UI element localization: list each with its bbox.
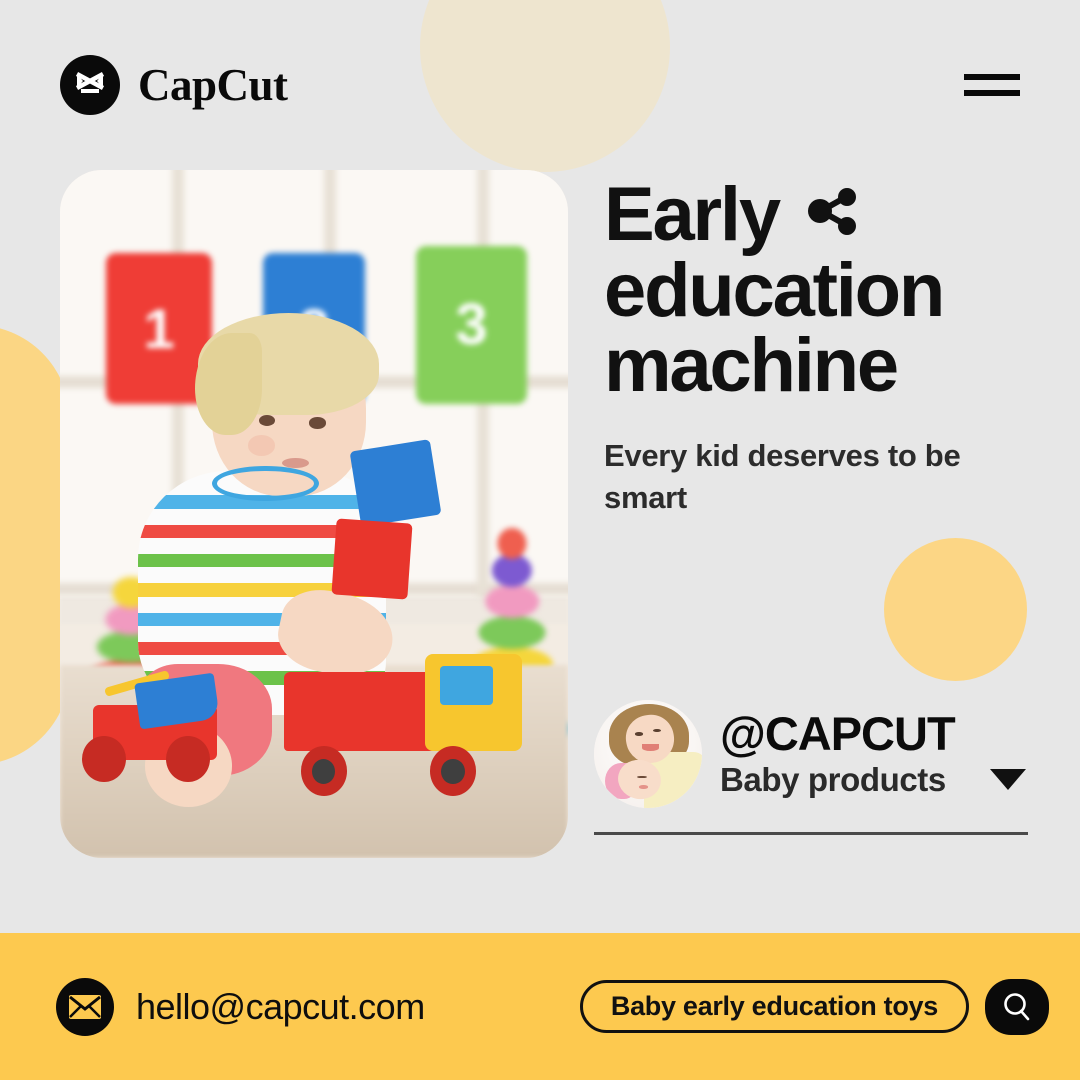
header-bar: CapCut — [0, 0, 1080, 170]
photo-scene: 1 2 3 — [60, 170, 568, 858]
page-title: Early education machine — [604, 176, 1034, 403]
photo-child-hair — [195, 333, 262, 435]
profile-row[interactable]: @CAPCUT Baby products — [594, 700, 1030, 808]
search-button[interactable] — [985, 979, 1049, 1035]
photo-toy-truck — [284, 645, 528, 796]
headline-line-2: education — [604, 254, 1034, 328]
profile-handle: @CAPCUT — [720, 709, 1026, 758]
brand-logo[interactable]: CapCut — [60, 55, 288, 115]
email-address: hello@capcut.com — [136, 986, 425, 1028]
share-icon[interactable] — [801, 180, 863, 254]
capcut-logo-icon — [60, 55, 120, 115]
yellow-circle-decoration — [884, 538, 1027, 681]
brand-name: CapCut — [138, 59, 288, 111]
poster-canvas: CapCut 1 2 3 — [0, 0, 1080, 1080]
menu-line-top — [964, 74, 1020, 80]
search-icon — [1000, 990, 1034, 1024]
subheadline: Every kid deserves to be smart — [604, 435, 1024, 518]
footer-bar: hello@capcut.com Baby early education to… — [0, 933, 1080, 1080]
headline-line-1: Early — [604, 178, 779, 252]
search-area: Baby early education toys — [580, 979, 1049, 1035]
photo-held-block-blue — [349, 439, 441, 526]
photo-child-cheek — [248, 435, 275, 455]
photo-child-collar — [212, 466, 319, 502]
headline-line-3: machine — [604, 329, 1034, 403]
menu-line-bottom — [964, 90, 1020, 96]
email-contact[interactable]: hello@capcut.com — [56, 978, 425, 1036]
profile-category: Baby products — [720, 761, 946, 799]
photo-child-eye — [309, 417, 326, 428]
search-input-value: Baby early education toys — [611, 991, 938, 1022]
photo-toy-loader — [60, 672, 243, 782]
avatar — [594, 700, 702, 808]
profile-text: @CAPCUT Baby products — [720, 709, 1026, 798]
toddler-playing-with-blocks-photo: 1 2 3 — [60, 170, 568, 858]
profile-category-row[interactable]: Baby products — [720, 761, 1026, 799]
profile-divider — [594, 832, 1028, 835]
photo-child-eye — [259, 415, 276, 426]
hamburger-menu-icon[interactable] — [964, 70, 1020, 100]
search-input[interactable]: Baby early education toys — [580, 980, 969, 1033]
hero-content: Early education machine Every kid deserv… — [604, 176, 1034, 518]
envelope-icon — [56, 978, 114, 1036]
headline-line-1-row: Early — [604, 176, 1034, 254]
profile-block: @CAPCUT Baby products — [594, 700, 1030, 835]
photo-held-block-red — [332, 518, 413, 599]
chevron-down-icon[interactable] — [990, 769, 1026, 790]
